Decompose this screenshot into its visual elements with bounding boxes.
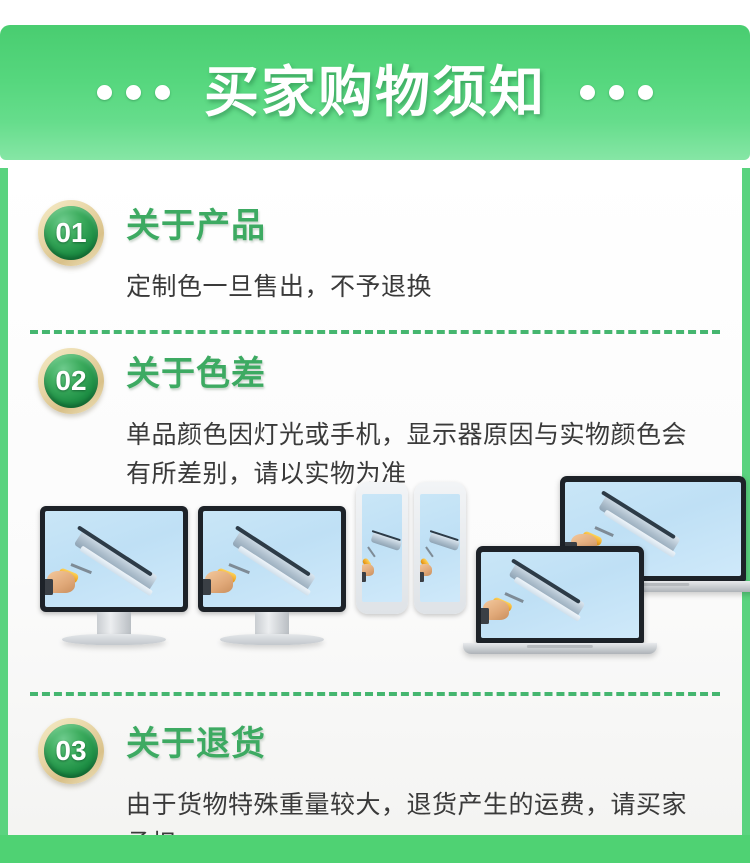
phone-body <box>414 482 466 614</box>
dot-icon <box>638 85 653 100</box>
phone-body <box>356 482 408 614</box>
laptop-front <box>476 546 644 654</box>
monitor-base <box>220 634 324 645</box>
dot-icon <box>609 85 624 100</box>
section-header: 03 关于退货 <box>38 718 722 780</box>
monitor-bezel <box>40 506 188 612</box>
laptop-deck <box>463 643 658 654</box>
section-divider <box>30 692 720 696</box>
section-title: 关于色差 <box>126 354 266 395</box>
section-divider <box>30 330 720 334</box>
paint-roller-illustration <box>203 511 341 607</box>
section-body-text: 定制色一旦售出，不予退换 <box>126 268 702 307</box>
section-number-label: 03 <box>44 724 98 778</box>
header-banner: 买家购物须知 <box>0 25 750 160</box>
section-number-badge: 03 <box>38 718 104 784</box>
footer-bar <box>0 835 750 863</box>
section-header: 01 关于产品 <box>38 200 722 262</box>
dot-icon <box>580 85 595 100</box>
section-number-label: 02 <box>44 354 98 408</box>
paint-roller-illustration <box>362 494 402 602</box>
laptop-lid <box>476 546 644 643</box>
monitor-neck <box>255 612 289 636</box>
paint-roller-illustration <box>45 511 183 607</box>
paint-roller-illustration <box>481 552 639 638</box>
section-number-badge: 01 <box>38 200 104 266</box>
smartphone-1 <box>356 482 408 614</box>
monitor-base <box>62 634 166 645</box>
laptop-screen <box>481 552 639 638</box>
monitor-screen <box>45 511 183 607</box>
page-title: 买家购物须知 <box>204 65 546 120</box>
section-number-label: 01 <box>44 206 98 260</box>
section-number-badge: 02 <box>38 348 104 414</box>
dot-icon <box>155 85 170 100</box>
monitor-neck <box>97 612 131 636</box>
monitor-bezel <box>198 506 346 612</box>
shopping-notice-page: 买家购物须知 01 关于产品 定制色一旦售出，不予退换 02 关于色差 单品颜色… <box>0 0 750 863</box>
smartphone-2 <box>414 482 466 614</box>
dot-icon <box>126 85 141 100</box>
section-header: 02 关于色差 <box>38 348 722 410</box>
phone-screen <box>420 494 460 602</box>
decorative-dots-left <box>97 85 170 100</box>
section-title: 关于退货 <box>126 724 266 765</box>
dot-icon <box>97 85 112 100</box>
laptop-trackpad <box>527 645 593 648</box>
phone-screen <box>362 494 402 602</box>
monitor-screen <box>203 511 341 607</box>
notice-section-01: 01 关于产品 定制色一旦售出，不予退换 <box>0 200 750 307</box>
section-title: 关于产品 <box>126 206 266 247</box>
paint-roller-illustration <box>420 494 460 602</box>
decorative-dots-right <box>580 85 653 100</box>
device-illustration-row <box>0 468 750 678</box>
